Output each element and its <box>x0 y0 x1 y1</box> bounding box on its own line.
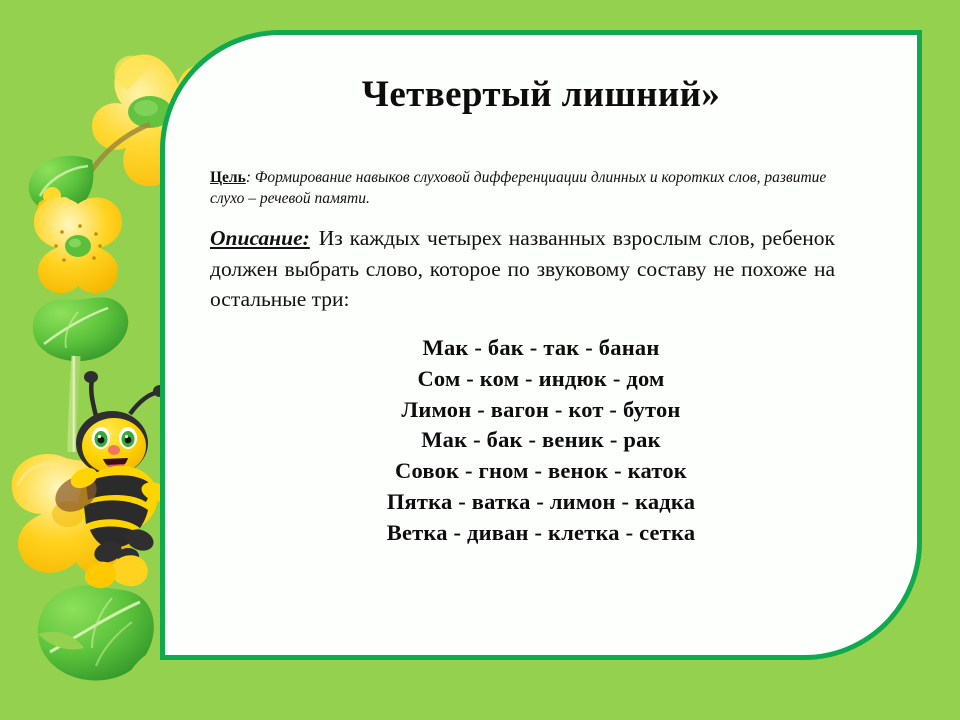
small-leaf <box>29 156 94 212</box>
middle-leaf <box>33 297 128 361</box>
flower-bottom-group <box>12 454 130 576</box>
goal-label: Цель <box>210 169 246 186</box>
flower-bottom-small <box>85 555 148 588</box>
word-row: Ветка - диван - клетка - сетка <box>165 518 917 549</box>
goal-block: Цель: Формирование навыков слуховой дифф… <box>210 167 832 210</box>
description-block: Описание:Из каждых четырех названных взр… <box>210 223 835 315</box>
goal-text: Формирование навыков слуховой дифференци… <box>210 169 826 207</box>
word-row: Сом - ком - индюк - дом <box>165 364 917 395</box>
word-row: Мак - бак - веник - рак <box>165 425 917 456</box>
panel-inner: Четвертый лишний» Цель: Формирование нав… <box>165 35 917 655</box>
word-row: Мак - бак - так - банан <box>165 333 917 364</box>
flower-middle-group <box>33 198 128 362</box>
word-row: Пятка - ватка - лимон - кадка <box>165 487 917 518</box>
content-panel: Четвертый лишний» Цель: Формирование нав… <box>160 30 922 660</box>
cartoon-bee <box>49 371 173 566</box>
slide-canvas: Четвертый лишний» Цель: Формирование нав… <box>0 0 960 720</box>
page-title: Четвертый лишний» <box>165 73 917 116</box>
flower-buds <box>38 187 71 212</box>
bottom-leaf-group <box>38 585 162 680</box>
description-label: Описание: <box>210 226 310 250</box>
word-row: Совок - гном - венок - каток <box>165 456 917 487</box>
word-row: Лимон - вагон - кот - бутон <box>165 395 917 426</box>
word-list: Мак - бак - так - банан Сом - ком - индю… <box>165 333 917 549</box>
